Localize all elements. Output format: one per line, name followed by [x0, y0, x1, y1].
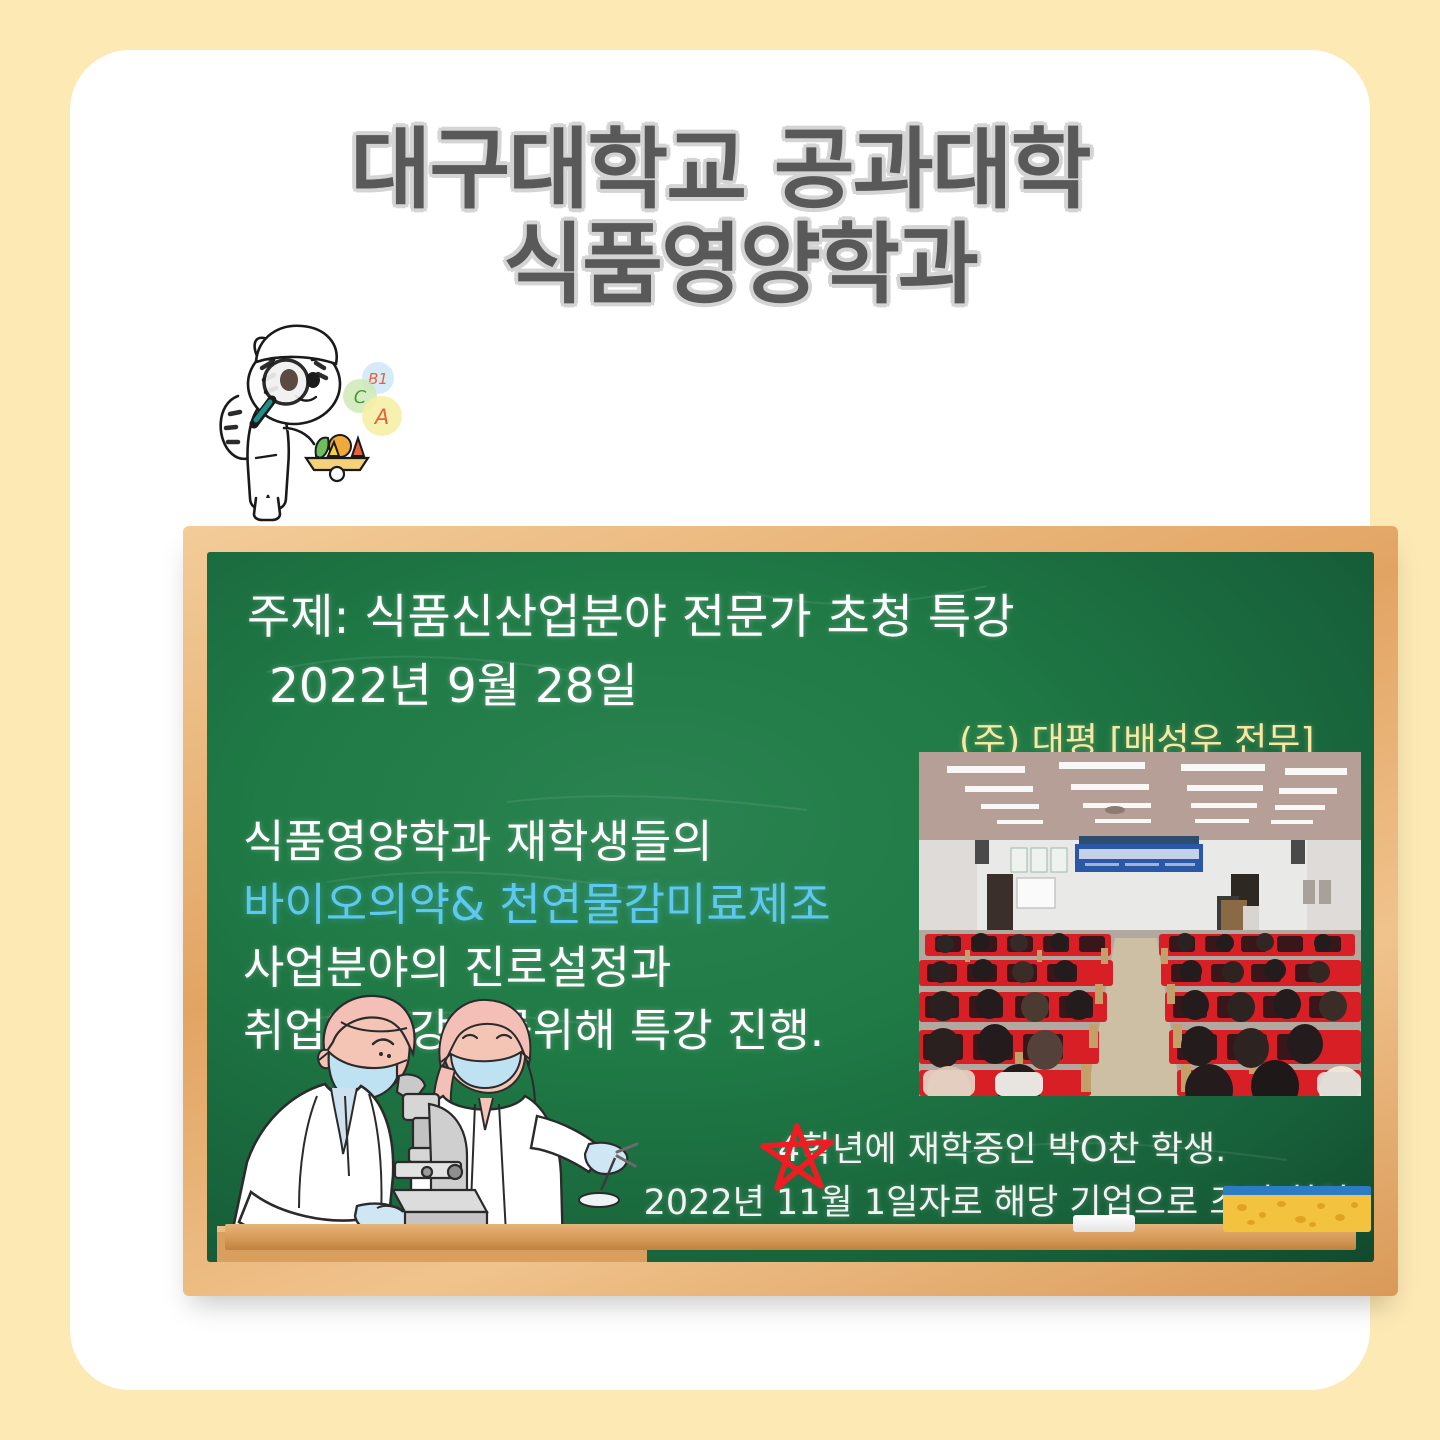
chalk-stick-icon [1073, 1215, 1135, 1232]
poster-card: 대구대학교 공과대학 식품영양학과 [70, 50, 1370, 1390]
tiger-mascot-icon: B1 C A [210, 318, 410, 528]
body-line: 식품영양학과 재학생들의 [243, 810, 831, 873]
sponge-eraser-icon [1223, 1186, 1371, 1232]
title-line-secondary: 식품영양학과 [70, 217, 1370, 312]
page-title: 대구대학교 공과대학 식품영양학과 [70, 122, 1370, 312]
topic-line: 주제: 식품신산업분야 전문가 초청 특강 [247, 578, 1014, 647]
body-line-highlighted: 바이오의약& 천연물감미료제조 [243, 873, 831, 936]
date-line: 2022년 9월 28일 [269, 647, 638, 716]
sponge-top-strip [1223, 1186, 1371, 1195]
title-line-primary: 대구대학교 공과대학 [70, 122, 1370, 217]
chalk-ledge [225, 1224, 1356, 1250]
chalkboard-surface: 주제: 식품신산업분야 전문가 초청 특강 2022년 9월 28일 (주) 대… [207, 552, 1374, 1262]
chalkboard: 주제: 식품신산업분야 전문가 초청 특강 2022년 9월 28일 (주) 대… [183, 526, 1398, 1296]
lecture-hall-photo [919, 752, 1361, 1096]
footnote-line: 4학년에 재학중인 박O찬 학생. [637, 1124, 1367, 1177]
svg-text:A: A [373, 405, 389, 429]
scientists-illustration [217, 976, 647, 1262]
svg-text:C: C [354, 387, 367, 408]
